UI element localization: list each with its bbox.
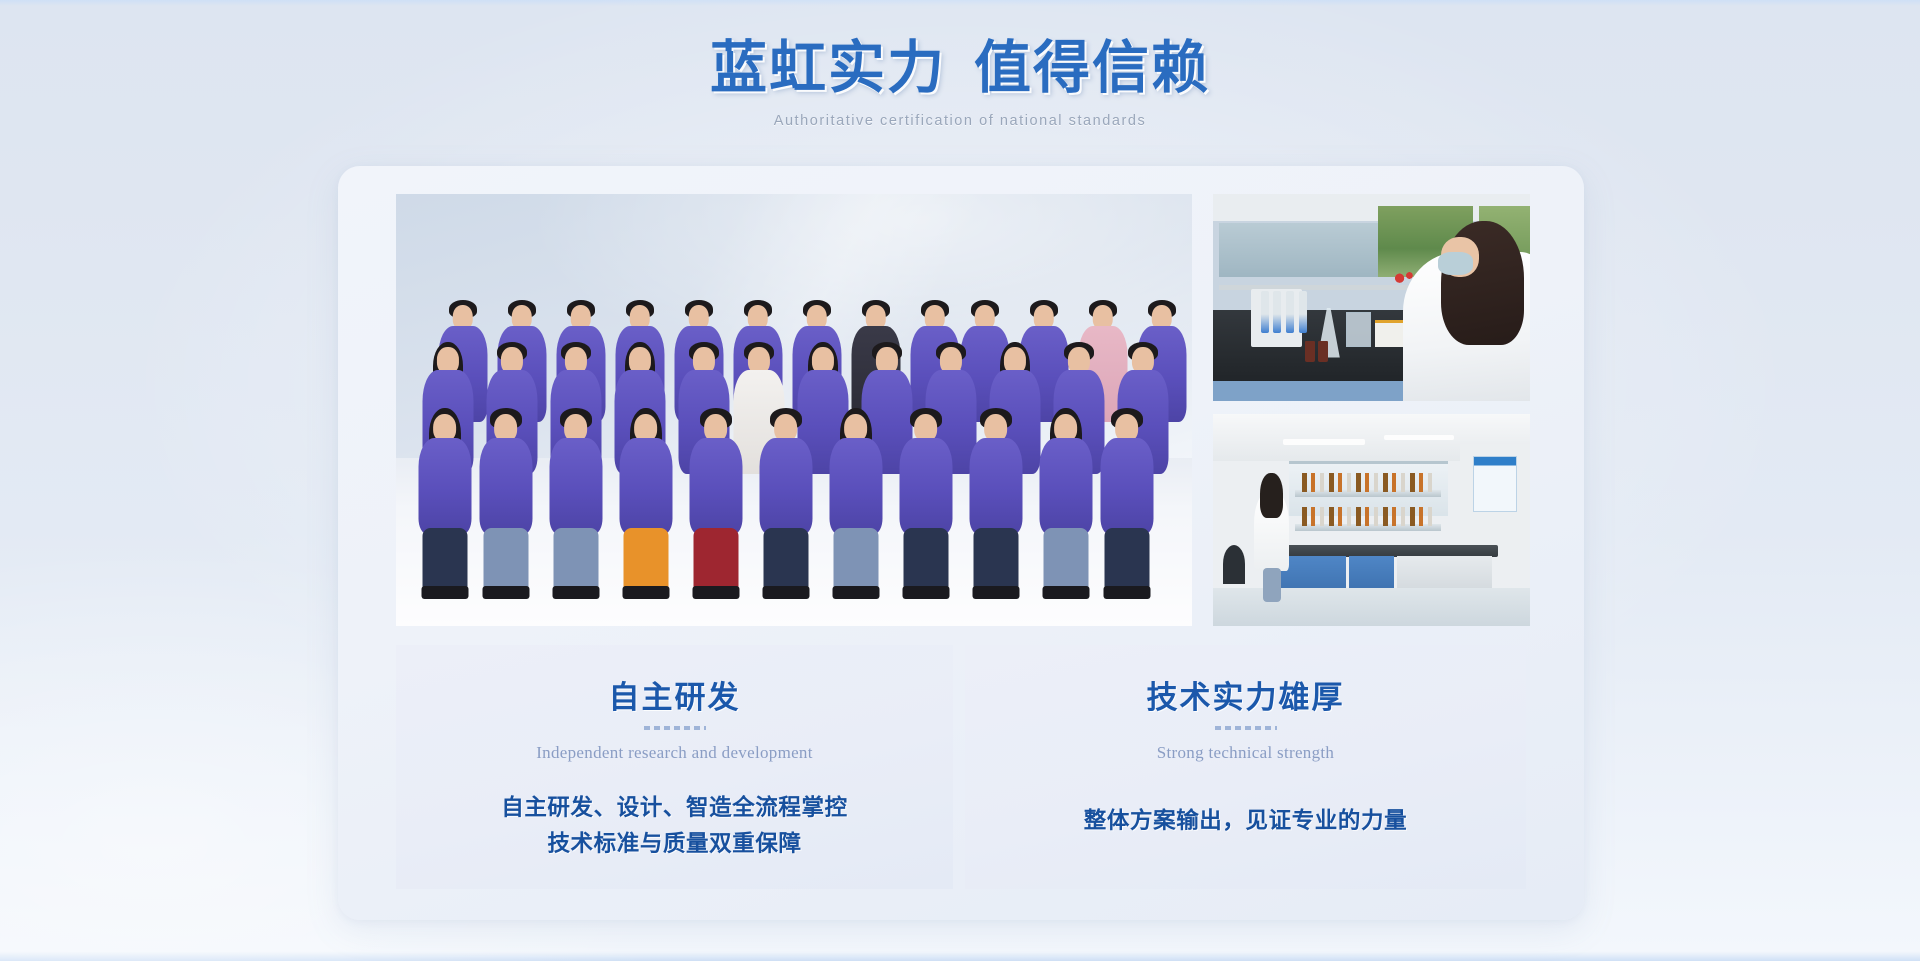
page-subtitle: Authoritative certification of national … <box>0 113 1920 129</box>
ceiling-light-2 <box>1384 435 1454 440</box>
dotted-divider <box>644 726 706 730</box>
person-shoes <box>762 586 809 599</box>
lab-stool <box>1223 545 1245 583</box>
person-shoes <box>1042 586 1089 599</box>
content-panel: 自主研发 Independent research and developmen… <box>338 166 1584 920</box>
feature-card-tech[interactable]: 技术实力雄厚 Strong technical strength 整体方案输出，… <box>965 645 1526 889</box>
person-uniform <box>759 438 812 534</box>
person-shoes <box>902 586 949 599</box>
lab-room-photo <box>1213 414 1530 626</box>
feature-card-rd-body-line-1: 自主研发、设计、智造全流程掌控 <box>396 790 953 826</box>
person-shoes <box>552 586 599 599</box>
lab-room-scene <box>1213 414 1530 626</box>
feature-card-rd-subtitle: Independent research and development <box>396 743 953 763</box>
person-legs <box>1104 528 1149 590</box>
pipette-4 <box>1299 291 1307 332</box>
feature-cards: 自主研发 Independent research and developmen… <box>396 645 1526 889</box>
person-legs <box>483 528 528 590</box>
pipette-3 <box>1286 291 1294 332</box>
feature-card-tech-title: 技术实力雄厚 <box>965 645 1526 713</box>
pipette-1 <box>1261 291 1269 332</box>
person-legs <box>973 528 1018 590</box>
person-shoes <box>482 586 529 599</box>
person-shoes <box>692 586 739 599</box>
person-uniform <box>619 438 672 534</box>
person-legs <box>553 528 598 590</box>
person-shoes <box>972 586 1019 599</box>
page-title-part2: 值得信赖 <box>974 37 1210 100</box>
page-title: 蓝虹实力值得信赖 <box>0 0 1920 97</box>
feature-card-tech-body-line-1: 整体方案输出，见证专业的力量 <box>965 803 1526 839</box>
feature-card-tech-body: 整体方案输出，见证专业的力量 <box>965 803 1526 839</box>
person-uniform <box>418 438 471 534</box>
lab-shelf-rail <box>1219 285 1422 290</box>
group-photo-people <box>396 194 1192 626</box>
lab-pipetting-scene <box>1213 194 1530 401</box>
technician-face-mask <box>1438 252 1473 275</box>
lab-pipetting-photo <box>1213 194 1530 401</box>
feature-card-rd[interactable]: 自主研发 Independent research and developmen… <box>396 645 953 889</box>
page-heading: 蓝虹实力值得信赖 Authoritative certification of … <box>0 0 1920 129</box>
person-shoes <box>1103 586 1150 599</box>
person-uniform <box>829 438 882 534</box>
lab-room-technician <box>1254 473 1289 604</box>
reagent-bottle-1 <box>1305 341 1315 362</box>
person-legs <box>1043 528 1088 590</box>
ceiling-light-1 <box>1283 439 1365 444</box>
page-title-part1: 蓝虹实力 <box>710 37 946 100</box>
person-shoes <box>622 586 669 599</box>
person-uniform <box>899 438 952 534</box>
person-legs <box>763 528 808 590</box>
safety-poster <box>1473 456 1517 511</box>
dotted-divider <box>1215 726 1277 730</box>
feature-card-rd-title: 自主研发 <box>396 645 953 713</box>
person-shoes <box>421 586 468 599</box>
beaker <box>1346 312 1371 347</box>
person-legs <box>422 528 467 590</box>
pipette-2 <box>1273 291 1281 332</box>
feature-card-rd-body-line-2: 技术标准与质量双重保障 <box>396 826 953 862</box>
person-uniform <box>1100 438 1153 534</box>
lab-back-glass <box>1219 223 1378 277</box>
person-uniform <box>479 438 532 534</box>
person-legs <box>623 528 668 590</box>
person-uniform <box>689 438 742 534</box>
feature-card-tech-subtitle: Strong technical strength <box>965 743 1526 763</box>
person-uniform <box>549 438 602 534</box>
person-legs <box>693 528 738 590</box>
feature-card-rd-body: 自主研发、设计、智造全流程掌控 技术标准与质量双重保障 <box>396 790 953 861</box>
company-group-photo <box>396 194 1192 626</box>
reagent-bottle-2 <box>1318 341 1328 362</box>
person-shoes <box>832 586 879 599</box>
person-legs <box>833 528 878 590</box>
person-legs <box>903 528 948 590</box>
technician-hair <box>1260 473 1282 518</box>
reagent-bottles-lower <box>1302 507 1435 526</box>
person-uniform <box>969 438 1022 534</box>
reagent-bottles-upper <box>1302 473 1435 492</box>
technician-jeans <box>1263 568 1281 602</box>
person-uniform <box>1039 438 1092 534</box>
